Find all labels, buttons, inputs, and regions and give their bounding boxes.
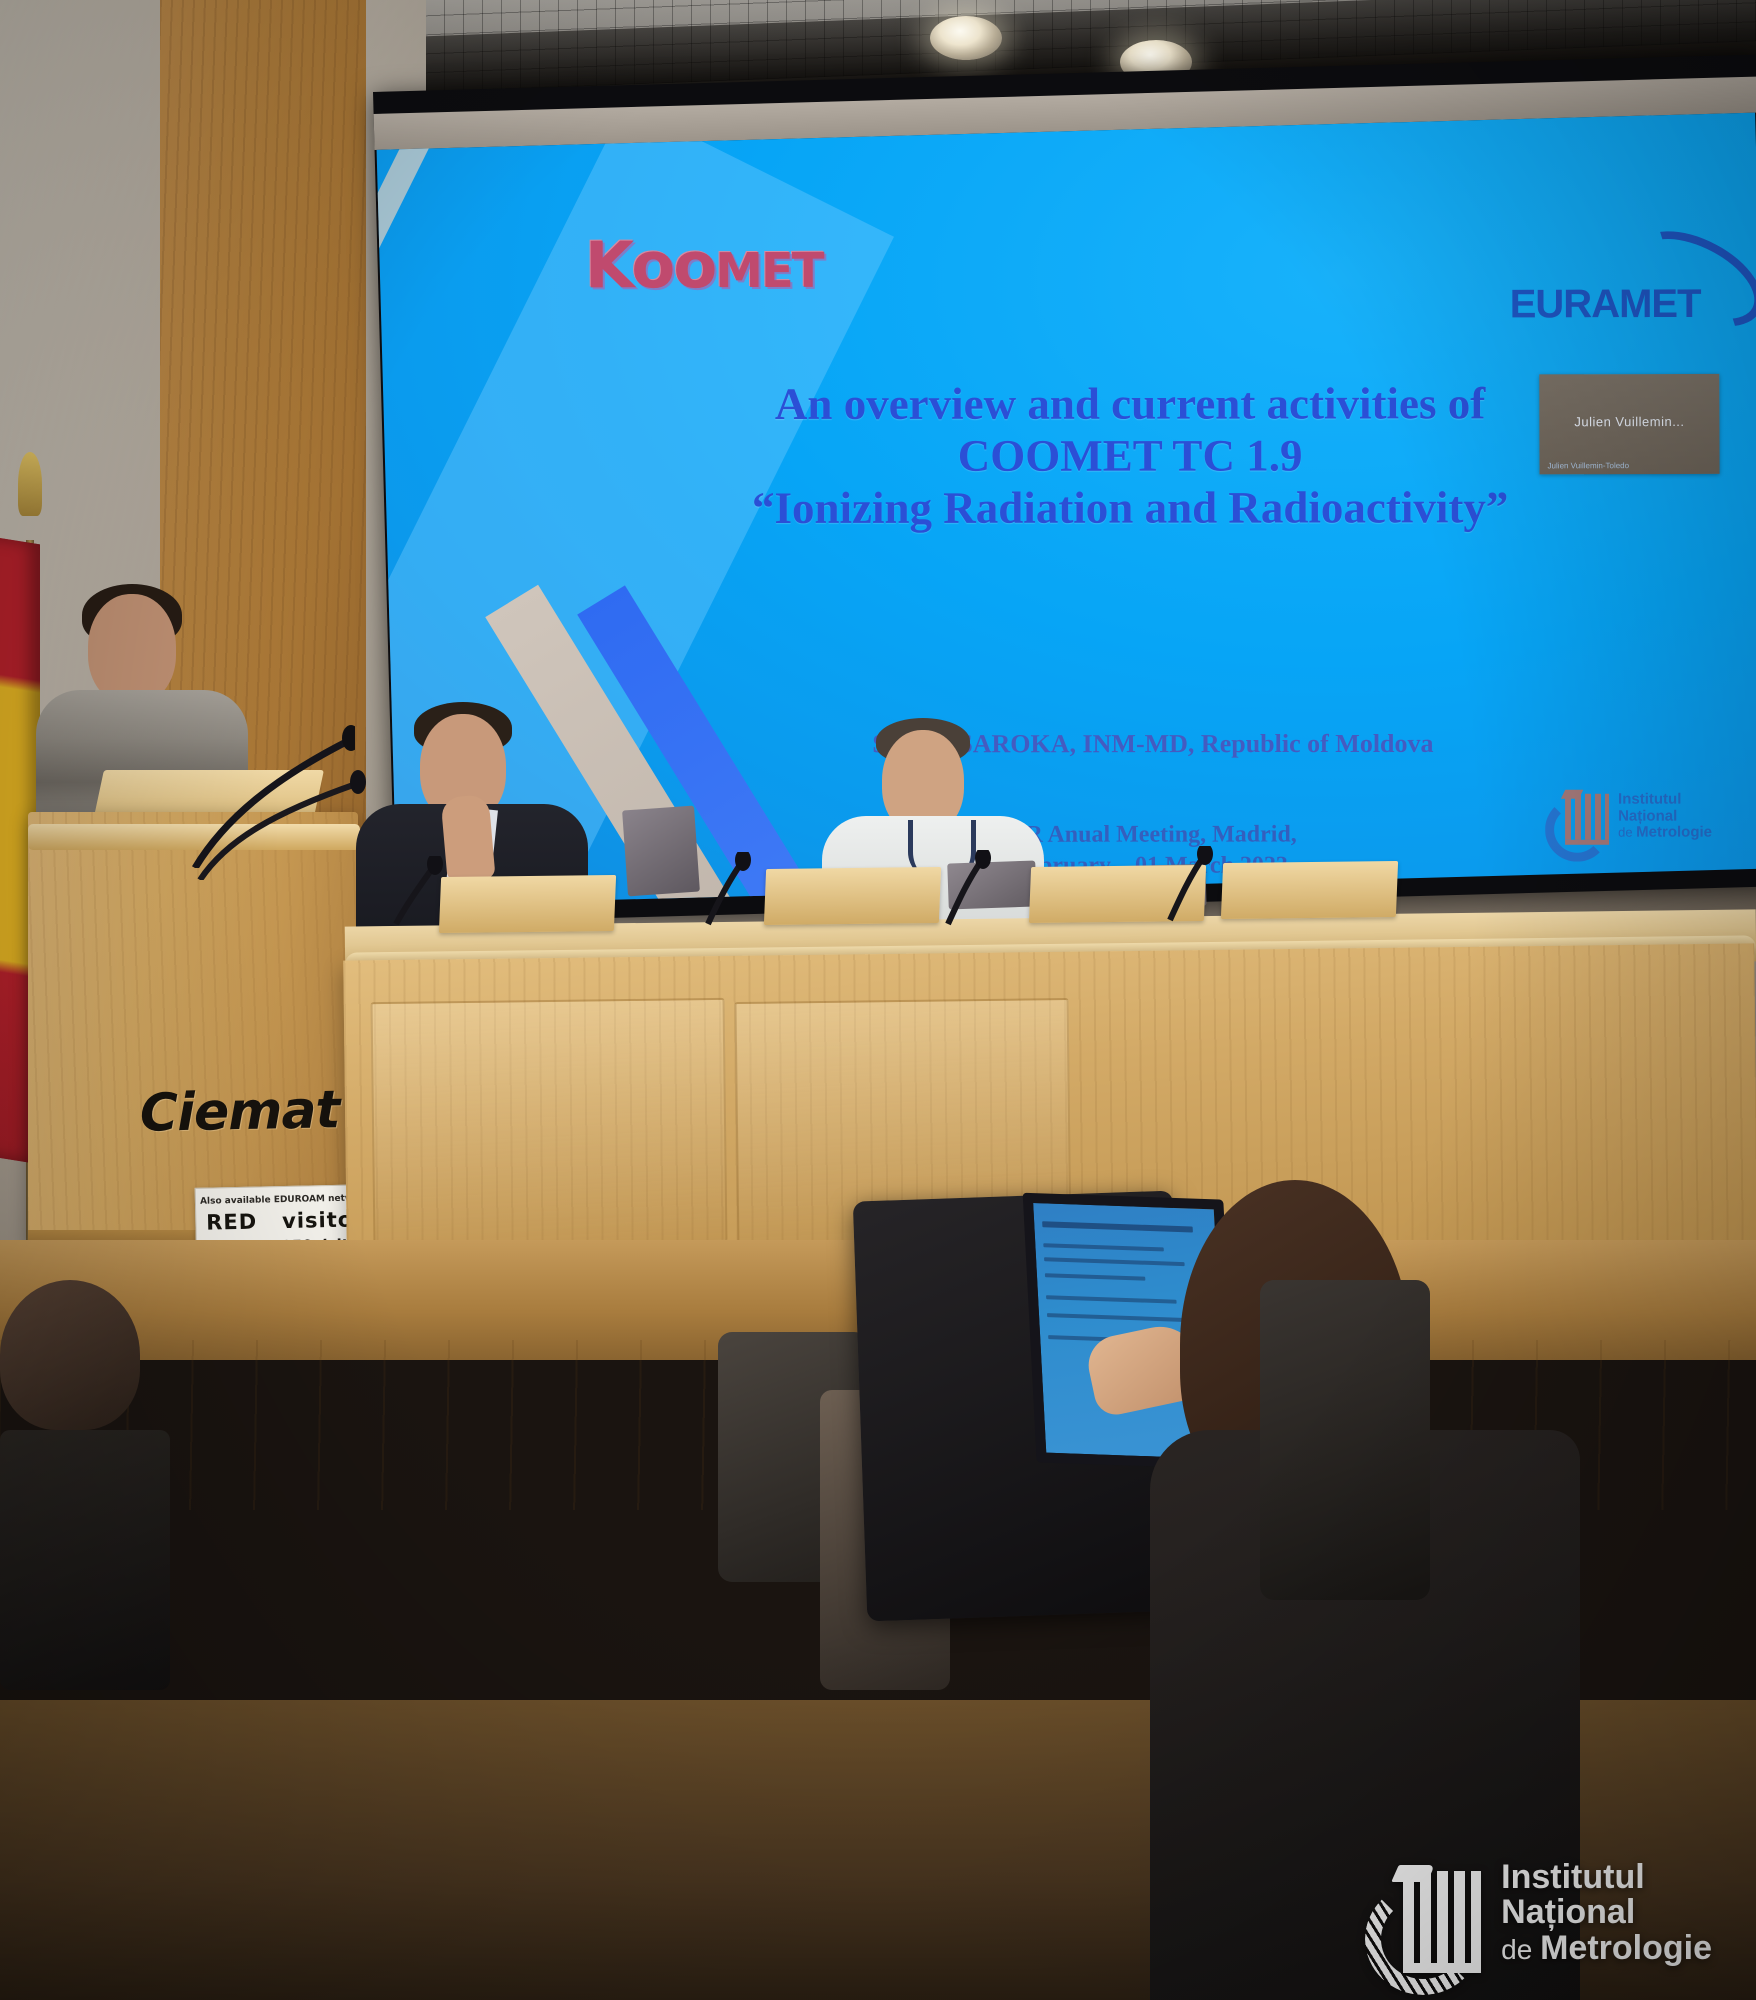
panel-microphone-4: [1162, 846, 1222, 922]
slide-inm-logo-text: Institutul Național de Metrologie: [1618, 791, 1712, 841]
slide-inm-line-3-prefix: de: [1618, 825, 1636, 840]
conference-photo-scene: KooMET EURAMET Julien Vuillemin... Julie…: [0, 0, 1756, 2000]
presentation-slide: KooMET EURAMET Julien Vuillemin... Julie…: [377, 113, 1756, 906]
speaker-head: [88, 594, 176, 704]
slide-title-line-3: “Ionizing Radiation and Radioactivity”: [565, 482, 1695, 535]
inm-watermark: Institutul Național de Metrologie: [1365, 1860, 1712, 1966]
euramet-logo: EURAMET: [1510, 236, 1750, 333]
inm-watermark-line-3: de Metrologie: [1501, 1931, 1712, 1966]
slide-title-line-1: An overview and current activities of: [565, 377, 1695, 430]
audience-head-left: [0, 1280, 140, 1430]
panel-laptop-1: [622, 806, 700, 897]
coomet-logo-k: K: [585, 229, 632, 303]
audience-chair-left: [0, 1430, 170, 1690]
inm-watermark-line-2: Național: [1501, 1895, 1712, 1930]
slide-inm-logo: Institutul Național de Metrologie: [1545, 780, 1756, 854]
inm-watermark-bars-icon: [1403, 1871, 1481, 1973]
podium-microphone-2: [196, 700, 366, 880]
slide-inm-line-3: de Metrologie: [1618, 825, 1712, 842]
inm-watermark-line-3-prefix: de: [1501, 1934, 1540, 1965]
panel-nameplate-4: [1221, 861, 1398, 919]
inm-mark-icon: [1545, 788, 1611, 846]
panel-nameplate-1: [439, 875, 616, 933]
coomet-logo-oo: oo: [631, 229, 715, 303]
panel-table-segment-1: [371, 998, 728, 1246]
panel-microphone-2: [700, 852, 760, 926]
slide-inm-line-3-main: Metrologie: [1636, 824, 1712, 841]
panel-microphone-3: [940, 850, 1000, 926]
slide-inm-line-1: Institutul: [1618, 791, 1712, 808]
slide-title-line-2: COOMET TC 1.9: [565, 429, 1695, 482]
euramet-logo-text: EURAMET: [1510, 282, 1701, 327]
ceiling-light-1: [930, 16, 1002, 60]
inm-watermark-mark-icon: [1365, 1861, 1485, 1965]
ciemat-logo: Ciemat: [139, 1080, 339, 1143]
slide-title: An overview and current activities of CO…: [565, 377, 1695, 535]
slide-inm-line-2: Național: [1618, 808, 1712, 825]
inm-watermark-text: Institutul Național de Metrologie: [1501, 1860, 1712, 1966]
inm-watermark-line-1: Institutul: [1501, 1860, 1712, 1895]
flag-finial: [18, 452, 42, 516]
panel-nameplate-2: [764, 867, 941, 925]
inm-bars-icon: [1565, 794, 1609, 845]
coomet-logo: KooMET: [585, 229, 823, 304]
slide-author: Siarhei SAROKA, INM-MD, Republic of Mold…: [593, 729, 1713, 760]
wifi-sign-network-red: RED: [206, 1210, 257, 1235]
coomet-logo-met: MET: [715, 243, 822, 299]
projection-screen: KooMET EURAMET Julien Vuillemin... Julie…: [373, 55, 1756, 924]
inm-watermark-line-3-main: Metrologie: [1540, 1929, 1712, 1967]
audience-chair-right: [1260, 1280, 1430, 1600]
panel-microphone-1: [390, 856, 450, 926]
